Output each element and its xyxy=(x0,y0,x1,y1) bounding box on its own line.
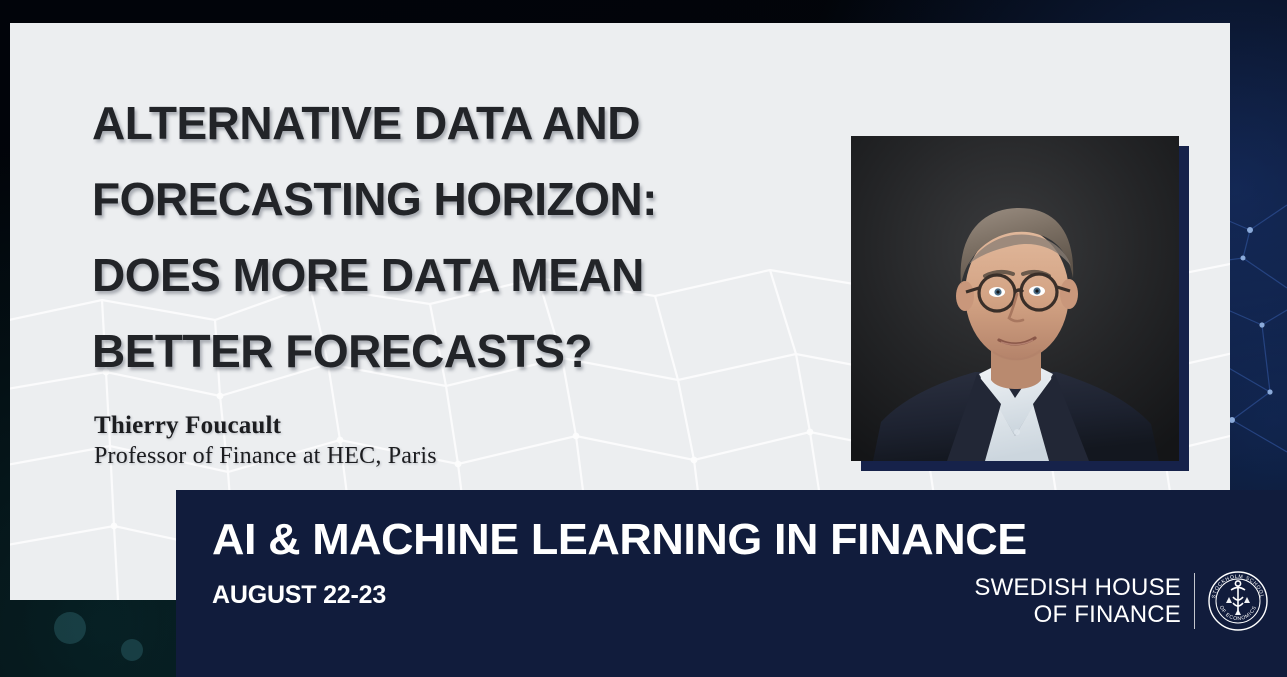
event-dates: AUGUST 22-23 xyxy=(212,580,386,610)
stockholm-school-of-economics-seal-icon: STOCKHOLM SCHOOL OF ECONOMICS xyxy=(1207,570,1269,632)
headline-line-4: BETTER FORECASTS? xyxy=(92,313,792,389)
portrait-photo-image xyxy=(851,136,1179,461)
logo-divider xyxy=(1194,573,1195,629)
event-title: AI & MACHINE LEARNING IN FINANCE xyxy=(212,515,1027,565)
speaker-portrait xyxy=(851,136,1179,461)
event-banner: AI & MACHINE LEARNING IN FINANCE AUGUST … xyxy=(176,490,1287,677)
headline-line-3: DOES MORE DATA MEAN xyxy=(92,237,792,313)
slide-stage: ALTERNATIVE DATA AND FORECASTING HORIZON… xyxy=(0,0,1287,677)
slide-headline: ALTERNATIVE DATA AND FORECASTING HORIZON… xyxy=(92,85,792,389)
logo-wordmark: SWEDISH HOUSE OF FINANCE xyxy=(974,574,1194,628)
swedish-house-of-finance-logo: SWEDISH HOUSE OF FINANCE xyxy=(974,570,1269,632)
headline-line-1: ALTERNATIVE DATA AND xyxy=(92,85,792,161)
headline-line-2: FORECASTING HORIZON: xyxy=(92,161,792,237)
speaker-role: Professor of Finance at HEC, Paris xyxy=(94,441,437,471)
speaker-portrait-wrap xyxy=(851,136,1179,461)
speaker-block: Thierry Foucault Professor of Finance at… xyxy=(94,411,437,471)
logo-wordmark-line-2: OF FINANCE xyxy=(974,601,1181,628)
speaker-name: Thierry Foucault xyxy=(94,411,437,441)
logo-wordmark-line-1: SWEDISH HOUSE xyxy=(974,574,1181,601)
